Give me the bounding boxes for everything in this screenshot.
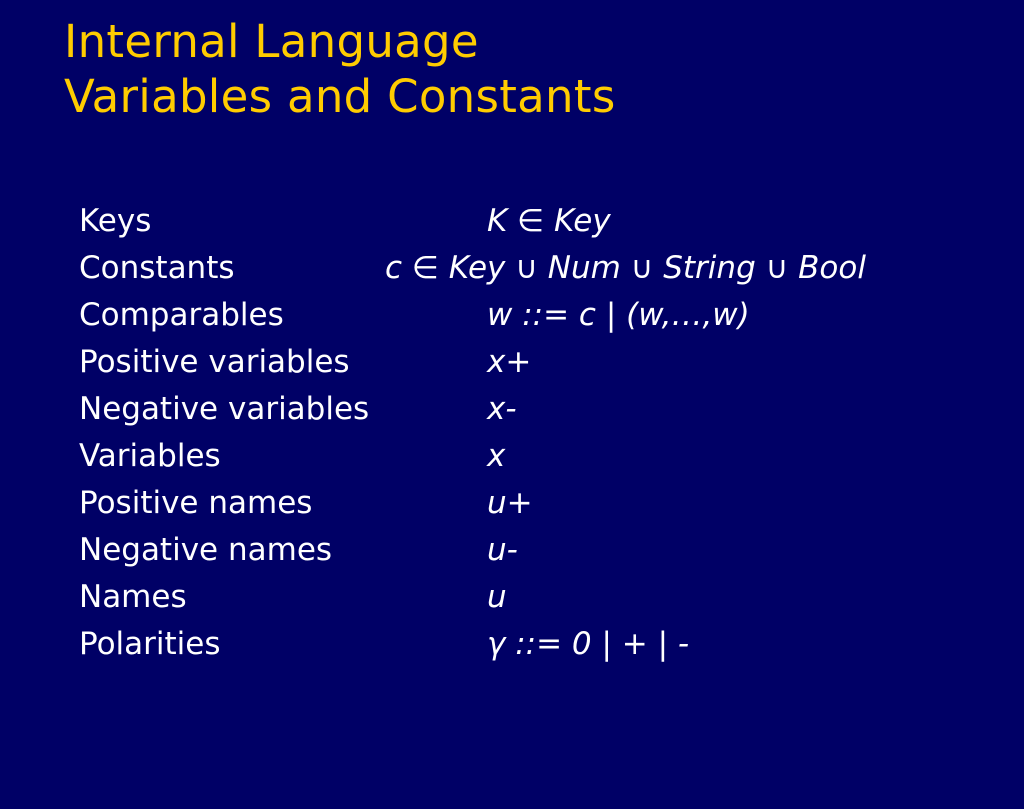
definition-term: Keys — [79, 198, 151, 245]
definition-row: Keys K ∈ Key — [0, 198, 1024, 245]
definition-row: Names u — [0, 574, 1024, 621]
definition-value: x- — [487, 386, 517, 433]
definition-term: Positive names — [79, 480, 312, 527]
definition-value: u+ — [487, 480, 533, 527]
definition-value: γ ::= 0 | + | - — [487, 621, 689, 668]
definition-value: x+ — [487, 339, 531, 386]
definition-list: Keys K ∈ Key Constants c ∈ Key ∪ Num ∪ S… — [0, 198, 1024, 668]
definition-term: Negative names — [79, 527, 332, 574]
slide-canvas: Internal Language Variables and Constant… — [0, 0, 1024, 768]
definition-row: Positive names u+ — [0, 480, 1024, 527]
definition-term: Names — [79, 574, 187, 621]
definition-term: Negative variables — [79, 386, 369, 433]
title-line-1: Internal Language — [64, 14, 964, 69]
definition-value: x — [487, 433, 505, 480]
definition-value: u- — [487, 527, 518, 574]
definition-term: Positive variables — [79, 339, 350, 386]
definition-row: Negative names u- — [0, 527, 1024, 574]
definition-value: K ∈ Key — [487, 198, 611, 245]
definition-row: Constants c ∈ Key ∪ Num ∪ String ∪ Bool — [0, 245, 1024, 292]
definition-row: Polarities γ ::= 0 | + | - — [0, 621, 1024, 668]
definition-value: u — [487, 574, 507, 621]
definition-row: Comparables w ::= c | (w,…,w) — [0, 292, 1024, 339]
definition-row: Negative variables x- — [0, 386, 1024, 433]
definition-term: Polarities — [79, 621, 221, 668]
definition-row: Positive variables x+ — [0, 339, 1024, 386]
title-line-2: Variables and Constants — [64, 69, 964, 124]
definition-term: Constants — [79, 245, 235, 292]
definition-row: Variables x — [0, 433, 1024, 480]
definition-term: Comparables — [79, 292, 284, 339]
slide-title: Internal Language Variables and Constant… — [64, 14, 964, 124]
definition-value: w ::= c | (w,…,w) — [487, 292, 750, 339]
definition-term: Variables — [79, 433, 221, 480]
definition-value: c ∈ Key ∪ Num ∪ String ∪ Bool — [385, 245, 866, 292]
